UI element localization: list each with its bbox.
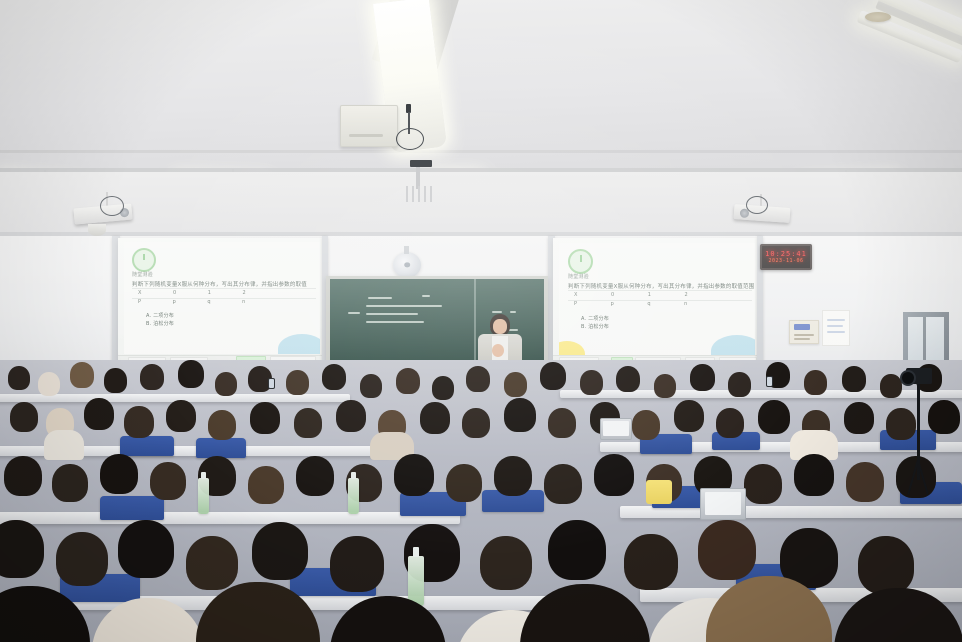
poster-text-line bbox=[827, 331, 845, 333]
slide-option-a-right[interactable]: A. 二项分布 bbox=[581, 315, 661, 322]
student-head bbox=[548, 408, 576, 438]
lecturer-hands bbox=[492, 344, 504, 357]
quiz-app-logo-icon bbox=[132, 248, 156, 272]
slide-left[interactable]: 随堂测验 判断下列随机变量X服从何种分布，写出其分布律，并指出参数的取值 X 0… bbox=[124, 242, 320, 354]
student-head bbox=[215, 372, 237, 396]
speaker-vent bbox=[349, 134, 383, 137]
dome-ceiling-fixture bbox=[865, 12, 891, 22]
student-head bbox=[758, 400, 790, 434]
chalk-stroke bbox=[492, 311, 502, 313]
ceiling-seam bbox=[0, 150, 962, 153]
student-head bbox=[178, 360, 204, 388]
student-head bbox=[842, 366, 866, 392]
student-head bbox=[594, 454, 634, 496]
slide-option-a-left[interactable]: A. 二项分布 bbox=[146, 312, 226, 319]
slide-question-right: 判断下列随机变量X服从何种分布，写出其分布律，并指出参数的取值范围 bbox=[568, 282, 754, 290]
chalk-stroke bbox=[510, 311, 516, 313]
slide-table-headers-right: X 0 1 2 bbox=[574, 292, 752, 298]
lecturer-head bbox=[490, 314, 510, 336]
chalk-stroke bbox=[348, 312, 360, 314]
student-head bbox=[728, 372, 751, 397]
student-phone[interactable] bbox=[268, 378, 275, 389]
student-head bbox=[548, 520, 606, 580]
student-head bbox=[432, 376, 454, 400]
projector-cable-loop-left bbox=[100, 196, 124, 216]
student-head bbox=[100, 454, 138, 494]
student-phone[interactable] bbox=[766, 376, 773, 387]
sign-text-line bbox=[794, 334, 814, 336]
camera-lens-icon bbox=[900, 370, 916, 386]
student-head bbox=[118, 520, 174, 578]
student-head bbox=[84, 398, 114, 430]
student-laptop[interactable] bbox=[700, 488, 746, 520]
audience-area bbox=[0, 360, 962, 642]
student-head bbox=[858, 536, 914, 594]
student-head bbox=[504, 372, 527, 397]
student-head bbox=[4, 456, 42, 496]
slide-question-left: 判断下列随机变量X服从何种分布，写出其分布律，并指出参数的取值 bbox=[132, 280, 316, 288]
poster-text-line bbox=[827, 319, 845, 321]
student-head bbox=[580, 370, 603, 395]
water-bottle[interactable] bbox=[408, 556, 424, 606]
slide-table-row-left: P p q n bbox=[138, 299, 316, 305]
student-head bbox=[56, 532, 108, 586]
student-head bbox=[844, 402, 874, 434]
wall-fan-icon bbox=[393, 252, 421, 278]
slide-table-row-right: P p q n bbox=[574, 301, 752, 307]
led-clock-time: 10:25:41 bbox=[765, 250, 807, 258]
desk-row bbox=[0, 512, 460, 524]
student-head bbox=[52, 464, 88, 502]
wall-speaker-box bbox=[340, 105, 398, 147]
student-head bbox=[250, 402, 280, 434]
chair-back bbox=[196, 438, 246, 458]
chalk-stroke bbox=[422, 295, 430, 297]
student-head bbox=[880, 374, 902, 398]
ceiling bbox=[0, 0, 962, 172]
chalk-stroke bbox=[368, 297, 392, 299]
student-head bbox=[846, 462, 884, 502]
student-head bbox=[336, 400, 366, 432]
student-head bbox=[504, 398, 536, 432]
water-bottle[interactable] bbox=[348, 478, 359, 514]
student-head bbox=[466, 366, 490, 392]
quiz-app-logo-icon bbox=[568, 249, 593, 274]
student-head bbox=[296, 456, 334, 496]
student-head bbox=[494, 456, 532, 496]
student-head bbox=[794, 454, 834, 496]
student-head bbox=[38, 372, 60, 396]
slide-option-b-left[interactable]: B. 泊松分布 bbox=[146, 320, 226, 327]
projection-screen-left[interactable]: 随堂测验 判断下列随机变量X服从何种分布，写出其分布律，并指出参数的取值 X 0… bbox=[118, 238, 324, 376]
lecturer-face bbox=[493, 319, 507, 334]
student-head bbox=[8, 366, 30, 390]
student-head bbox=[248, 466, 284, 504]
upper-wall bbox=[0, 172, 962, 240]
sign-blue-header bbox=[794, 324, 810, 330]
slide-table-rule-top bbox=[568, 290, 752, 291]
student-head bbox=[150, 462, 186, 500]
student-head bbox=[624, 534, 678, 590]
student-head bbox=[330, 536, 384, 592]
student-head bbox=[540, 362, 566, 390]
student-head bbox=[286, 370, 309, 395]
student-laptop[interactable] bbox=[600, 418, 632, 440]
slide-option-b-right[interactable]: B. 泊松分布 bbox=[581, 323, 661, 330]
student-head bbox=[698, 520, 756, 580]
student-head bbox=[208, 410, 236, 440]
student-head bbox=[616, 366, 640, 392]
chalk-stroke bbox=[366, 321, 424, 323]
student-head bbox=[674, 400, 704, 432]
student-torso bbox=[44, 430, 84, 460]
sign-text-line bbox=[794, 338, 810, 340]
wall-poster bbox=[822, 310, 850, 346]
projector-smoke-detector-left bbox=[88, 224, 106, 236]
slide-heading-left: 随堂测验 bbox=[132, 271, 202, 278]
poster-text-line bbox=[827, 325, 843, 327]
student-head bbox=[690, 364, 715, 391]
chair-back bbox=[100, 496, 164, 520]
student-head bbox=[804, 370, 827, 395]
chalk-stroke bbox=[366, 313, 418, 315]
student-head bbox=[716, 408, 744, 438]
student-head bbox=[396, 368, 420, 394]
desk-row bbox=[560, 390, 962, 398]
student-head bbox=[446, 464, 482, 502]
led-clock-date: 2023-11-06 bbox=[768, 258, 803, 264]
student-head bbox=[480, 536, 532, 590]
wall-fan-bracket bbox=[404, 246, 409, 254]
mount-cage bbox=[406, 186, 432, 202]
student-head bbox=[886, 408, 916, 440]
lecture-hall-photo: 随堂测验 判断下列随机变量X服从何种分布，写出其分布律，并指出参数的取值 X 0… bbox=[0, 0, 962, 642]
slide-decor-blue-right bbox=[711, 335, 755, 355]
student-head bbox=[0, 520, 44, 578]
student-head bbox=[166, 400, 196, 432]
slide-right[interactable]: 随堂测验 判断下列随机变量X服从何种分布，写出其分布律，并指出参数的取值范围 X… bbox=[559, 243, 755, 355]
student-head bbox=[928, 400, 960, 434]
led-clock-display: 10:25:41 2023-11-06 bbox=[760, 244, 812, 270]
projector-cable-loop-right bbox=[746, 196, 768, 214]
student-head bbox=[140, 364, 164, 390]
student-head bbox=[294, 408, 322, 438]
cable-loop-icon bbox=[396, 128, 424, 150]
student-head bbox=[322, 364, 346, 390]
student-head-foreground bbox=[520, 584, 650, 642]
chalk-stroke bbox=[366, 305, 442, 307]
student-head bbox=[70, 362, 94, 388]
slide-table-headers-left: X 0 1 2 bbox=[138, 290, 316, 296]
ceiling-mount-bracket bbox=[410, 160, 432, 167]
student-head bbox=[544, 464, 582, 504]
student-head bbox=[252, 522, 308, 580]
slide-decor-yellow-right bbox=[559, 341, 585, 355]
notice-sign bbox=[789, 320, 819, 344]
student-head bbox=[420, 402, 450, 434]
student-head bbox=[10, 402, 38, 432]
student-head bbox=[744, 464, 782, 504]
projection-screen-right[interactable]: 随堂测验 判断下列随机变量X服从何种分布，写出其分布律，并指出参数的取值范围 X… bbox=[553, 238, 759, 376]
student-head bbox=[654, 374, 676, 398]
water-bottle[interactable] bbox=[198, 478, 209, 514]
slide-decor-blue-left bbox=[278, 334, 320, 354]
chair-back bbox=[120, 436, 174, 456]
student-head bbox=[186, 536, 238, 590]
student-head bbox=[632, 410, 660, 440]
student-head bbox=[104, 368, 127, 393]
student-head bbox=[462, 408, 490, 438]
slide-heading-right: 随堂测验 bbox=[568, 273, 640, 280]
slide-table-rule-top bbox=[132, 288, 316, 289]
student-head bbox=[394, 454, 434, 496]
yellow-tote-bag bbox=[646, 480, 672, 504]
student-head bbox=[360, 374, 382, 398]
student-head bbox=[124, 406, 154, 438]
